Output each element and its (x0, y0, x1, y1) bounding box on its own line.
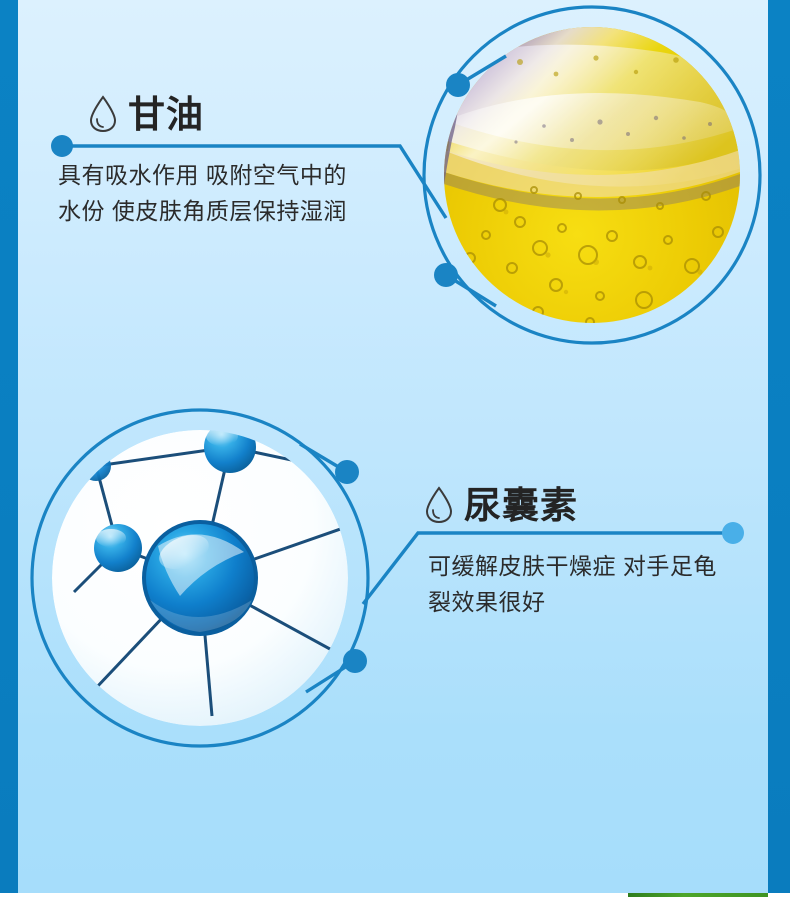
water-drop-icon (88, 95, 118, 133)
allantoin-node-dot-top (335, 460, 359, 484)
glycerin-node-dot-top (446, 73, 470, 97)
glycerin-photo (444, 27, 742, 330)
allantoin-heading: 尿囊素 (420, 477, 750, 533)
molecule-illustration (52, 421, 352, 726)
glycerin-node-dot-bottom (434, 263, 458, 287)
section-glycerin: 甘油 具有吸水作用 吸附空气中的 水份 使皮肤角质层保持湿润 (58, 86, 388, 229)
water-drop-icon (424, 486, 454, 524)
allantoin-molecule-circle (32, 410, 368, 746)
allantoin-description: 可缓解皮肤干燥症 对手足龟 裂效果很好 (420, 549, 750, 620)
section-allantoin: 尿囊素 可缓解皮肤干燥症 对手足龟 裂效果很好 (420, 477, 750, 620)
glycerin-heading: 甘油 (58, 86, 388, 142)
molecule-center-atom (142, 520, 258, 636)
allantoin-node-dot-bottom (343, 649, 367, 673)
infographic-page: 甘油 具有吸水作用 吸附空气中的 水份 使皮肤角质层保持湿润 尿囊素 可缓解皮肤… (0, 0, 790, 899)
glycerin-title: 甘油 (128, 96, 204, 133)
allantoin-title: 尿囊素 (464, 487, 578, 524)
glycerin-description: 具有吸水作用 吸附空气中的 水份 使皮肤角质层保持湿润 (58, 158, 388, 229)
